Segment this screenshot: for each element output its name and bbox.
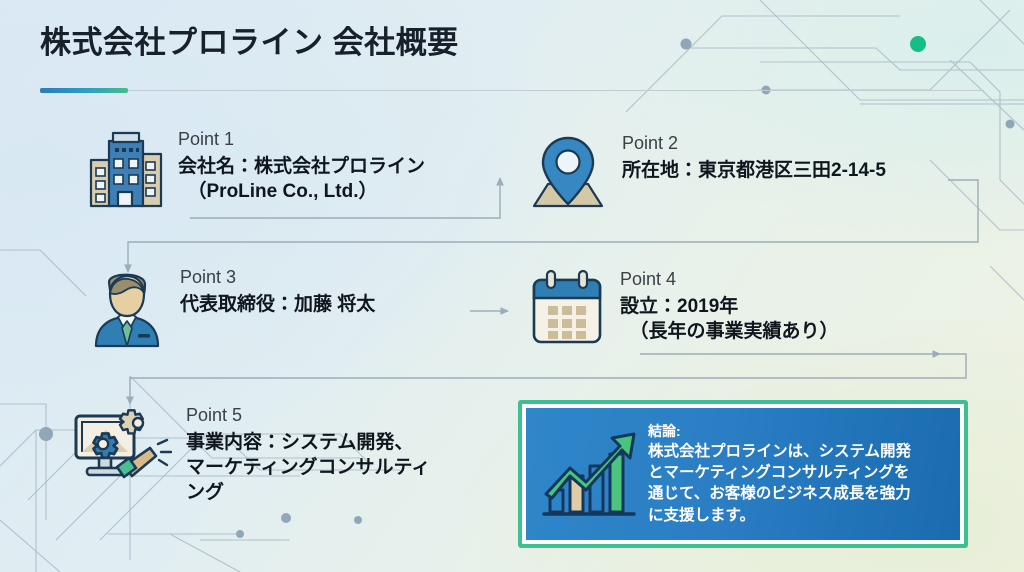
point-5-body: 事業内容：システム開発、 マーケティングコンサルティ ング xyxy=(186,430,430,505)
monitor-gear-megaphone-icon xyxy=(72,404,172,493)
point-item-4[interactable]: Point 4 設立：2019年 （長年の事業実績あり） xyxy=(528,268,839,353)
conclusion-text-block: 結論: 株式会社プロラインは、システム開発 とマーケティングコンサルティングを … xyxy=(648,422,911,526)
point-2-label: Point 2 xyxy=(622,132,886,155)
connector-p4-p5 xyxy=(130,354,966,404)
title-wrap: 株式会社プロライン 会社概要 xyxy=(40,24,984,61)
conclusion-box[interactable]: 結論: 株式会社プロラインは、システム開発 とマーケティングコンサルティングを … xyxy=(518,400,968,548)
point-4-text-block: Point 4 設立：2019年 （長年の事業実績あり） xyxy=(620,268,839,344)
point-3-label: Point 3 xyxy=(180,266,375,289)
point-2-body: 所在地：東京都港区三田2-14-5 xyxy=(622,158,886,183)
conclusion-body: 株式会社プロラインは、システム開発 とマーケティングコンサルティングを 通じて、… xyxy=(648,441,911,527)
map-pin-icon xyxy=(528,132,608,219)
point-3-body: 代表取締役：加藤 将太 xyxy=(180,292,375,317)
slide-canvas: 株式会社プロライン 会社概要 xyxy=(0,0,1024,572)
point-item-3[interactable]: Point 3 代表取締役：加藤 将太 xyxy=(88,266,375,353)
point-5-text-block: Point 5 事業内容：システム開発、 マーケティングコンサルティ ング xyxy=(186,404,430,505)
point-1-text-block: Point 1 会社名：株式会社プロライン （ProLine Co., Ltd.… xyxy=(178,128,425,204)
conclusion-heading: 結論: xyxy=(648,422,911,441)
point-item-1[interactable]: Point 1 会社名：株式会社プロライン （ProLine Co., Ltd.… xyxy=(88,128,425,217)
title-underline-rest xyxy=(128,90,984,91)
point-4-body: 設立：2019年 （長年の事業実績あり） xyxy=(620,294,839,344)
point-item-2[interactable]: Point 2 所在地：東京都港区三田2-14-5 xyxy=(528,132,886,219)
calendar-icon xyxy=(528,268,606,353)
point-3-text-block: Point 3 代表取締役：加藤 将太 xyxy=(180,266,375,317)
point-item-5[interactable]: Point 5 事業内容：システム開発、 マーケティングコンサルティ ング xyxy=(72,404,430,505)
point-1-label: Point 1 xyxy=(178,128,425,151)
title-underline-accent xyxy=(40,88,128,93)
businessman-icon xyxy=(88,266,166,353)
page-title: 株式会社プロライン 会社概要 xyxy=(40,24,984,61)
title-underline xyxy=(40,88,984,93)
conclusion-inner: 結論: 株式会社プロラインは、システム開発 とマーケティングコンサルティングを … xyxy=(526,408,960,540)
point-2-text-block: Point 2 所在地：東京都港区三田2-14-5 xyxy=(622,132,886,183)
point-4-label: Point 4 xyxy=(620,268,839,291)
growth-chart-icon xyxy=(534,418,642,531)
office-building-icon xyxy=(88,128,164,217)
point-5-label: Point 5 xyxy=(186,404,430,427)
point-1-body: 会社名：株式会社プロライン （ProLine Co., Ltd.） xyxy=(178,154,425,204)
